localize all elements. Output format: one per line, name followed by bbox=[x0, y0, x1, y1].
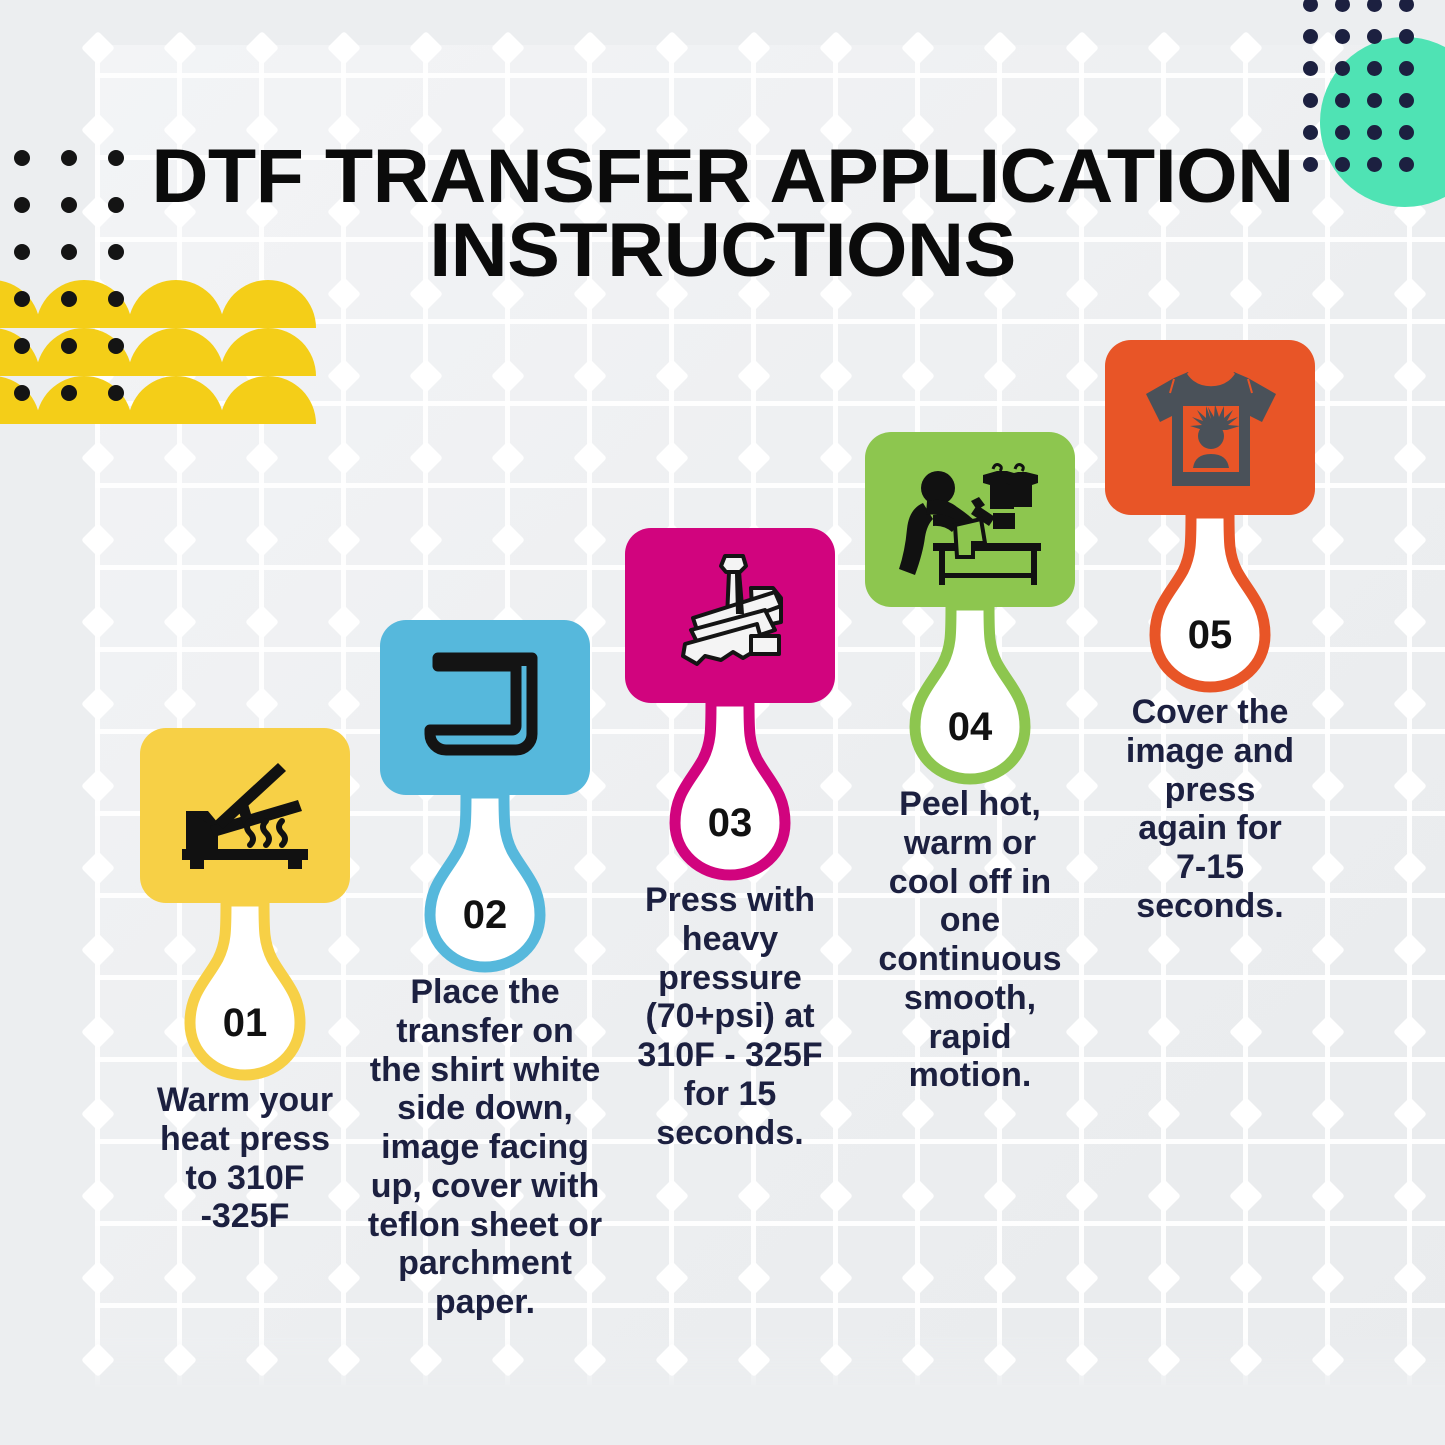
worker-peeling-icon bbox=[893, 455, 1048, 585]
step-03-connector: 03 bbox=[605, 701, 855, 881]
heat-press-machine-icon bbox=[655, 548, 805, 683]
decor-dot bbox=[14, 338, 30, 354]
decor-dot bbox=[1399, 125, 1414, 140]
page-title: DTF TRANSFER APPLICATION INSTRUCTIONS bbox=[0, 140, 1445, 289]
decor-dot bbox=[1303, 29, 1318, 44]
decor-dot bbox=[1303, 61, 1318, 76]
decor-dot bbox=[1303, 93, 1318, 108]
decor-dot bbox=[1303, 0, 1318, 12]
step-05-connector: 05 bbox=[1085, 513, 1335, 693]
decor-dot bbox=[1335, 0, 1350, 12]
decor-dot bbox=[1335, 125, 1350, 140]
step-02-text: Place the transfer on the shirt white si… bbox=[354, 973, 616, 1322]
decor-dot bbox=[61, 385, 77, 401]
step-01-connector: 01 bbox=[120, 901, 370, 1081]
step-04-number: 04 bbox=[845, 705, 1095, 750]
decor-dot bbox=[14, 385, 30, 401]
step-03-text: Press with heavy pressure (70+psi) at 31… bbox=[605, 881, 855, 1152]
step-01: 01 Warm your heat press to 310F -325F bbox=[120, 728, 370, 1236]
step-01-icon-card bbox=[140, 728, 350, 903]
decor-dot bbox=[1367, 0, 1382, 12]
decor-dot bbox=[1367, 93, 1382, 108]
step-04-connector: 04 bbox=[845, 605, 1095, 785]
step-02-connector: 02 bbox=[360, 793, 610, 973]
decor-dot bbox=[108, 291, 124, 307]
decor-dot bbox=[1399, 61, 1414, 76]
decor-dot bbox=[61, 338, 77, 354]
decor-dot bbox=[1303, 125, 1318, 140]
decor-dot bbox=[108, 385, 124, 401]
step-02-icon-card bbox=[380, 620, 590, 795]
decor-dot bbox=[1367, 125, 1382, 140]
decor-dot bbox=[108, 338, 124, 354]
decor-dot bbox=[1399, 0, 1414, 12]
decor-dot bbox=[1399, 93, 1414, 108]
step-04-icon-card bbox=[865, 432, 1075, 607]
decor-dot bbox=[1367, 29, 1382, 44]
step-04: 04 Peel hot, warm or cool off in one con… bbox=[845, 432, 1095, 1095]
decor-dot bbox=[1335, 61, 1350, 76]
decor-dot bbox=[14, 291, 30, 307]
step-05: 05 Cover the image and press again for 7… bbox=[1085, 340, 1335, 926]
step-05-text: Cover the image and press again for 7-15… bbox=[1085, 693, 1335, 926]
decor-dot bbox=[1399, 29, 1414, 44]
step-03: 03 Press with heavy pressure (70+psi) at… bbox=[605, 528, 855, 1152]
step-01-number: 01 bbox=[120, 1001, 370, 1046]
step-05-icon-card bbox=[1105, 340, 1315, 515]
heat-press-icon bbox=[170, 753, 320, 878]
step-02-number: 02 bbox=[360, 893, 610, 938]
decor-dot bbox=[1335, 93, 1350, 108]
step-05-number: 05 bbox=[1085, 613, 1335, 658]
step-02: 02 Place the transfer on the shirt white… bbox=[360, 620, 610, 1322]
step-04-text: Peel hot, warm or cool off in one contin… bbox=[845, 785, 1095, 1095]
step-03-number: 03 bbox=[605, 801, 855, 846]
decor-dot bbox=[1367, 61, 1382, 76]
step-01-text: Warm your heat press to 310F -325F bbox=[120, 1081, 370, 1236]
decor-dot bbox=[1335, 29, 1350, 44]
printed-tshirt-icon bbox=[1138, 360, 1283, 495]
step-03-icon-card bbox=[625, 528, 835, 703]
transfer-sheet-icon bbox=[420, 648, 550, 768]
decor-dot bbox=[61, 291, 77, 307]
